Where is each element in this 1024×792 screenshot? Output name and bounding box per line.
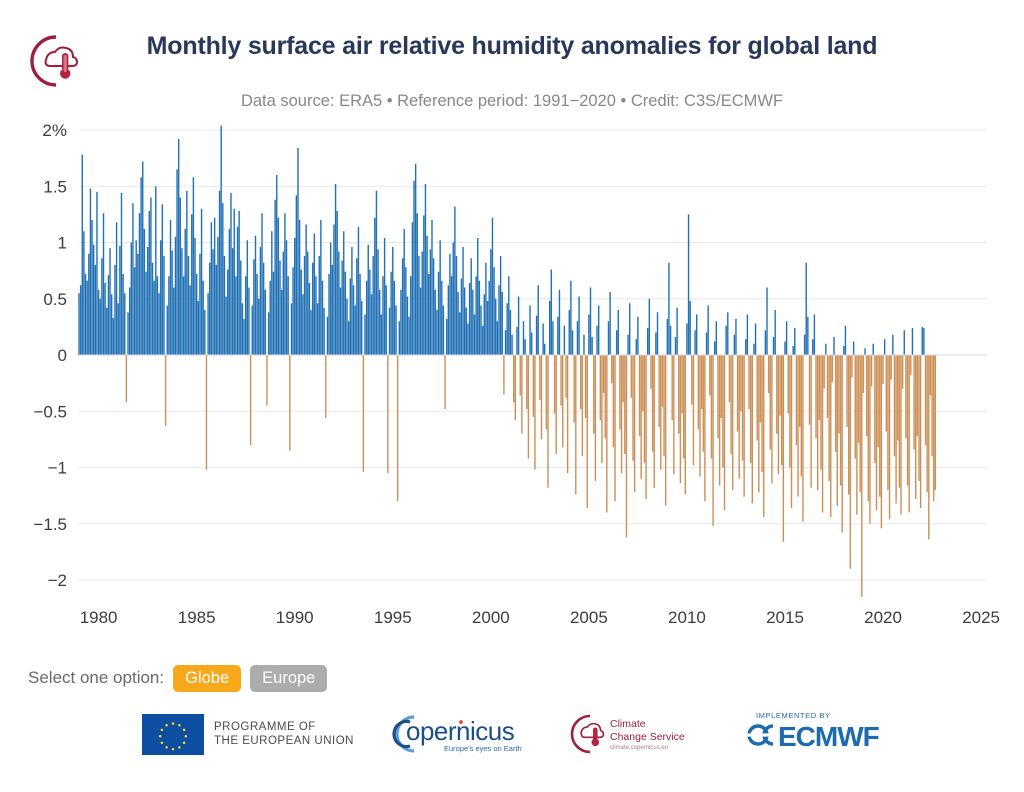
bar [114, 265, 115, 355]
bar [716, 321, 717, 355]
bar [511, 335, 512, 355]
bar [351, 247, 352, 355]
bar [191, 214, 192, 355]
bar [206, 355, 207, 470]
bar [840, 355, 841, 486]
bar [88, 254, 89, 355]
bar [523, 321, 524, 355]
bar [864, 348, 865, 355]
bar [255, 236, 256, 355]
bar [413, 181, 414, 355]
bar [217, 237, 218, 355]
bar [286, 240, 287, 355]
bar [394, 281, 395, 355]
bar [654, 355, 655, 488]
bar [613, 355, 614, 447]
bar [372, 256, 373, 355]
bar [80, 285, 81, 355]
bar [717, 355, 718, 438]
bar [245, 276, 246, 355]
bar [861, 355, 862, 597]
bar [551, 270, 552, 356]
bar [425, 184, 426, 355]
ecmwf-wordmark: ECMWF [778, 721, 879, 753]
bar [493, 267, 494, 355]
bar [91, 220, 92, 355]
bar [346, 299, 347, 355]
bar [309, 283, 310, 355]
bar [815, 355, 816, 438]
bar [145, 272, 146, 355]
bar [935, 355, 936, 490]
bar [433, 258, 434, 355]
bar [211, 222, 212, 355]
bar [269, 281, 270, 355]
bar [693, 355, 694, 465]
bar [181, 248, 182, 355]
bar [555, 355, 556, 454]
bar [668, 263, 669, 355]
bar [152, 263, 153, 355]
bar [552, 321, 553, 355]
bar [350, 279, 351, 356]
bar [418, 256, 419, 355]
bar [291, 303, 292, 355]
bar [278, 218, 279, 355]
bar [314, 234, 315, 356]
bar [915, 355, 916, 499]
bar [812, 339, 813, 355]
bar [747, 315, 748, 356]
bar [402, 258, 403, 355]
bar [547, 355, 548, 488]
bar [591, 337, 592, 355]
bar [404, 229, 405, 355]
bar [771, 355, 772, 483]
bar [137, 254, 138, 355]
bar [386, 285, 387, 355]
ecmwf-implemented-by-label: IMPLEMENTED BY [756, 711, 831, 720]
bar [230, 193, 231, 355]
bar [113, 318, 114, 355]
bar [482, 326, 483, 355]
bar [756, 355, 757, 441]
c3s-logo-text: Climate Change Service [610, 718, 685, 743]
bar [791, 355, 792, 508]
bar [466, 308, 467, 355]
bar [570, 281, 571, 355]
bar [632, 355, 633, 461]
bar [265, 290, 266, 355]
bar [436, 310, 437, 355]
bar [786, 321, 787, 355]
bar [619, 355, 620, 429]
bar [645, 355, 646, 499]
bar [886, 355, 887, 432]
bar [471, 258, 472, 355]
bar [644, 355, 645, 463]
bar [252, 306, 253, 356]
bar [405, 267, 406, 355]
bar [799, 355, 800, 427]
x-axis-tick-labels: 1980198519901995200020052010201520202025 [80, 608, 1000, 627]
bar [779, 355, 780, 416]
bar [802, 355, 803, 522]
bar [457, 292, 458, 355]
bar [443, 306, 444, 356]
bar [845, 326, 846, 355]
bar [390, 272, 391, 355]
bar [204, 310, 205, 355]
bar [162, 204, 163, 355]
bar [377, 249, 378, 355]
bar [587, 355, 588, 508]
bar [773, 337, 774, 355]
bar [199, 254, 200, 355]
eu-logo-block: PROGRAMME OF THE EUROPEAN UNION [142, 714, 354, 755]
bar [462, 247, 463, 355]
bar [848, 355, 849, 495]
bar [134, 267, 135, 355]
bar [737, 355, 738, 432]
bar [332, 265, 333, 355]
x-tick-label: 2025 [962, 608, 1000, 627]
bar [541, 355, 542, 439]
bar [706, 333, 707, 356]
bar [828, 355, 829, 481]
bar [480, 306, 481, 356]
bar [176, 169, 177, 355]
bar [873, 344, 874, 355]
x-tick-label: 2005 [570, 608, 608, 627]
bar [160, 240, 161, 355]
y-tick-label: 1 [58, 234, 67, 253]
bar [549, 301, 550, 355]
option-button-globe[interactable]: Globe [173, 665, 241, 692]
bar [503, 355, 504, 394]
bar [622, 355, 623, 402]
bar [621, 355, 622, 473]
bar [292, 267, 293, 355]
bar [600, 355, 601, 420]
bar [742, 355, 743, 461]
bar [557, 317, 558, 355]
bar [912, 328, 913, 355]
bar [618, 310, 619, 355]
bar [750, 355, 751, 463]
bar [663, 355, 664, 456]
bar [224, 256, 225, 355]
bar [539, 355, 540, 400]
bar [207, 293, 208, 355]
bar [739, 355, 740, 479]
bar [752, 355, 753, 504]
bar [564, 326, 565, 355]
x-tick-label: 1985 [178, 608, 216, 627]
bar [920, 355, 921, 508]
bar [722, 355, 723, 468]
bar [662, 355, 663, 407]
bar [763, 355, 764, 517]
bar [106, 308, 107, 355]
bar [387, 355, 388, 473]
bar [484, 294, 485, 355]
bar [768, 355, 769, 393]
bar [740, 355, 741, 411]
bar [330, 243, 331, 356]
bar [804, 335, 805, 355]
bar [256, 274, 257, 355]
bar [488, 281, 489, 355]
option-button-europe[interactable]: Europe [250, 665, 327, 692]
bar [304, 256, 305, 355]
bar [116, 222, 117, 355]
bar [234, 209, 235, 355]
bar [369, 270, 370, 356]
bar [926, 355, 927, 492]
bar [866, 355, 867, 436]
bar [194, 238, 195, 355]
bar [173, 288, 174, 356]
x-tick-label: 1995 [374, 608, 412, 627]
bar [608, 321, 609, 355]
bar [639, 355, 640, 436]
bar [198, 301, 199, 355]
bar [606, 355, 607, 513]
bar [863, 355, 864, 393]
bar [227, 270, 228, 356]
bar [225, 297, 226, 356]
bar [475, 276, 476, 355]
bar [95, 265, 96, 355]
bar [809, 355, 810, 425]
bar [183, 276, 184, 355]
bar [529, 306, 530, 356]
bar [636, 339, 637, 355]
bar [908, 355, 909, 513]
bar [472, 290, 473, 355]
bar [827, 355, 828, 418]
bar [614, 355, 615, 501]
y-tick-label: 2% [42, 121, 67, 140]
bar [505, 330, 506, 355]
bar [665, 355, 666, 506]
bar [533, 355, 534, 417]
bar [678, 355, 679, 434]
bar [734, 335, 735, 355]
bar [593, 355, 594, 434]
bar [930, 355, 931, 396]
bar [573, 355, 574, 423]
bar [464, 288, 465, 356]
bar [485, 263, 486, 355]
bar [524, 339, 525, 355]
bar [354, 306, 355, 356]
bar [118, 303, 119, 355]
bar [296, 195, 297, 355]
bar [83, 231, 84, 355]
bar [673, 355, 674, 474]
bar [562, 355, 563, 447]
bar [609, 292, 610, 355]
bar [212, 249, 213, 355]
bar [451, 276, 452, 355]
bar [895, 355, 896, 504]
bar [534, 355, 535, 470]
bar [554, 355, 555, 414]
bar [104, 283, 105, 355]
bar [578, 297, 579, 356]
bar [923, 328, 924, 355]
bar [789, 355, 790, 468]
bar [243, 319, 244, 355]
bar [761, 355, 762, 472]
bar [435, 290, 436, 355]
bar [82, 155, 83, 355]
bar [237, 227, 238, 355]
bar [928, 355, 929, 540]
bar [627, 335, 628, 355]
bar [624, 355, 625, 454]
bar [273, 272, 274, 355]
bar [667, 319, 668, 355]
bar [364, 315, 365, 356]
bar [446, 319, 447, 355]
bar [93, 245, 94, 355]
bar [876, 355, 877, 510]
bar [807, 317, 808, 355]
bar [520, 355, 521, 396]
bar [490, 249, 491, 355]
bar [590, 288, 591, 356]
bar [131, 243, 132, 356]
bar [412, 222, 413, 355]
bar [709, 355, 710, 396]
bar [575, 355, 576, 495]
bar [675, 337, 676, 355]
bar [601, 355, 602, 463]
bar [871, 355, 872, 387]
bar [683, 355, 684, 459]
bar [426, 236, 427, 355]
y-axis-tick-labels: 2%1.510.50−0.5−1−1.5−2 [33, 121, 67, 590]
bar [637, 317, 638, 355]
bar [260, 247, 261, 355]
bar [392, 247, 393, 355]
bar [229, 229, 230, 355]
bar [294, 238, 295, 355]
c3s-url-text: climate.copernicus.eu [610, 745, 668, 751]
bar [640, 355, 641, 479]
bar [544, 344, 545, 355]
bar [500, 256, 501, 355]
bar [832, 355, 833, 382]
bar [101, 258, 102, 355]
bar [841, 355, 842, 533]
c3s-thermometer-cloud-icon [566, 712, 610, 756]
bar [289, 355, 290, 451]
bar [735, 319, 736, 355]
bar [868, 355, 869, 501]
chart-page: Monthly surface air relative humidity an… [0, 0, 1024, 792]
bar [850, 355, 851, 569]
bar [508, 276, 509, 355]
bar [214, 218, 215, 355]
bar [158, 293, 159, 355]
bar [506, 303, 507, 355]
bar [382, 276, 383, 355]
bar [900, 355, 901, 515]
bar [119, 246, 120, 355]
bar [516, 327, 517, 355]
bar [178, 139, 179, 355]
bar [760, 355, 761, 423]
bar [899, 355, 900, 488]
bar [822, 355, 823, 513]
bar [180, 198, 181, 356]
bar [694, 330, 695, 355]
bar [652, 355, 653, 452]
bar [322, 281, 323, 355]
bar [611, 355, 612, 383]
bar [907, 355, 908, 486]
bar [626, 355, 627, 537]
bar [216, 265, 217, 355]
bar [567, 355, 568, 473]
bar [748, 355, 749, 409]
bar [859, 355, 860, 492]
bar [588, 315, 589, 356]
bar [142, 162, 143, 356]
bar [356, 258, 357, 355]
bar [438, 272, 439, 355]
bar [126, 355, 127, 402]
bar [897, 355, 898, 441]
bar [103, 213, 104, 355]
bar [819, 355, 820, 420]
bar [825, 344, 826, 355]
bar [368, 245, 369, 355]
bar [796, 355, 797, 445]
bar [823, 355, 824, 389]
bar [497, 321, 498, 355]
bar [340, 288, 341, 356]
bar [428, 274, 429, 355]
bar [248, 288, 249, 356]
ecmwf-logo-block: IMPLEMENTED BY ECMWF [742, 711, 882, 757]
bar [240, 261, 241, 356]
bar [569, 310, 570, 355]
bar [685, 355, 686, 495]
bar [502, 292, 503, 355]
bar [109, 248, 110, 355]
bar [407, 297, 408, 356]
bar [806, 263, 807, 355]
x-tick-label: 1990 [276, 608, 314, 627]
bar [721, 355, 722, 418]
bar [725, 326, 726, 355]
copernicus-wordmark: opernicus [406, 716, 514, 747]
copernicus-logo-block: opernicus Europe's eyes on Earth [380, 711, 540, 757]
bar [879, 355, 880, 497]
bar [776, 355, 777, 434]
bar [337, 211, 338, 355]
bar [580, 355, 581, 409]
bar [686, 324, 687, 356]
selector-label: Select one option: [28, 668, 164, 688]
bar [701, 355, 702, 409]
bar [560, 355, 561, 406]
